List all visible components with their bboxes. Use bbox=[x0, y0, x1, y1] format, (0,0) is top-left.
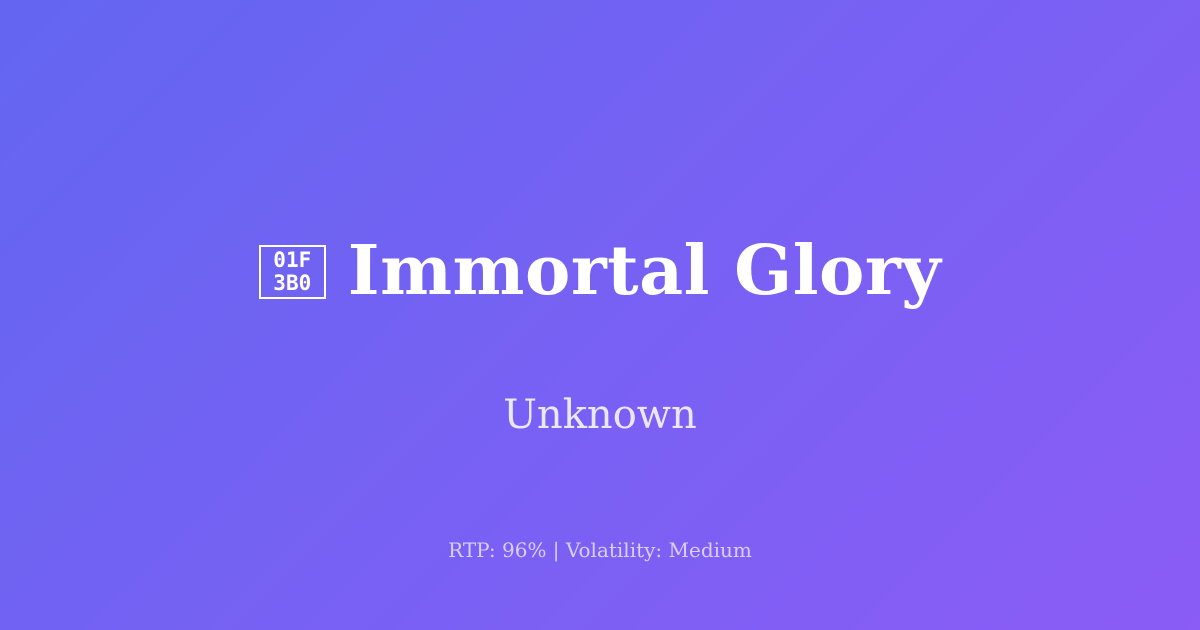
tofu-codepoint-low: 3B0 bbox=[273, 272, 311, 295]
title-row: 01F 3B0 Immortal Glory bbox=[259, 191, 941, 353]
game-stats-line: RTP: 96% | Volatility: Medium bbox=[0, 538, 1200, 562]
game-og-card: 01F 3B0 Immortal Glory Unknown RTP: 96% … bbox=[0, 0, 1200, 630]
slot-machine-icon: 01F 3B0 bbox=[259, 245, 326, 299]
game-provider-subtitle: Unknown bbox=[503, 391, 697, 439]
page-title: Immortal Glory bbox=[348, 236, 941, 307]
tofu-codepoint-high: 01F bbox=[273, 249, 311, 272]
